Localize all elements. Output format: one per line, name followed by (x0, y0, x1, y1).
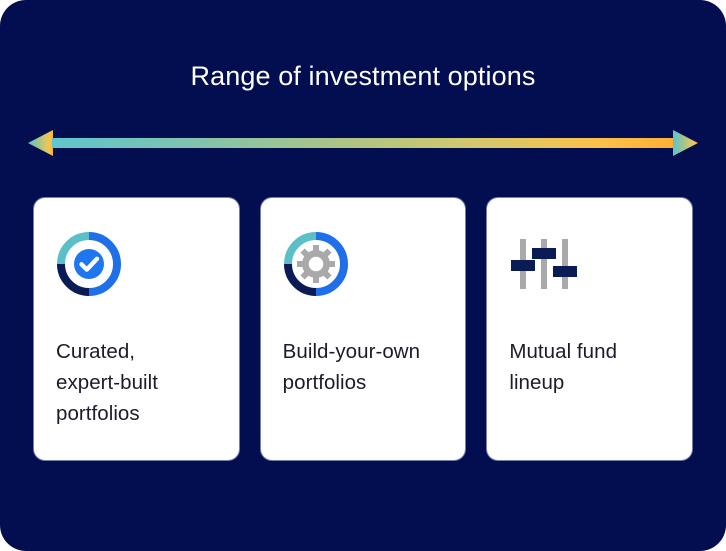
check-circle (74, 249, 104, 279)
infographic-canvas: Range of investment options (0, 0, 726, 551)
card-label: Curated, expert-built portfolios (56, 336, 217, 429)
card-icon-wrap (56, 226, 217, 302)
donut-check-icon (56, 231, 122, 297)
cards-row: Curated, expert-built portfolios (34, 198, 692, 460)
sliders-equalizer-icon (509, 234, 579, 294)
card-icon-wrap (509, 226, 670, 302)
card-mutual-fund-lineup[interactable]: Mutual fund lineup (487, 198, 692, 460)
card-curated-portfolios[interactable]: Curated, expert-built portfolios (34, 198, 239, 460)
donut-gear-icon (283, 231, 349, 297)
spectrum-arrow (28, 126, 698, 160)
card-build-your-own-portfolios[interactable]: Build-your-own portfolios (261, 198, 466, 460)
double-headed-arrow-icon (28, 126, 698, 160)
card-label: Mutual fund lineup (509, 336, 670, 398)
card-label: Build-your-own portfolios (283, 336, 444, 398)
card-icon-wrap (283, 226, 444, 302)
gear-hole (308, 257, 323, 272)
page-title: Range of investment options (0, 59, 726, 93)
